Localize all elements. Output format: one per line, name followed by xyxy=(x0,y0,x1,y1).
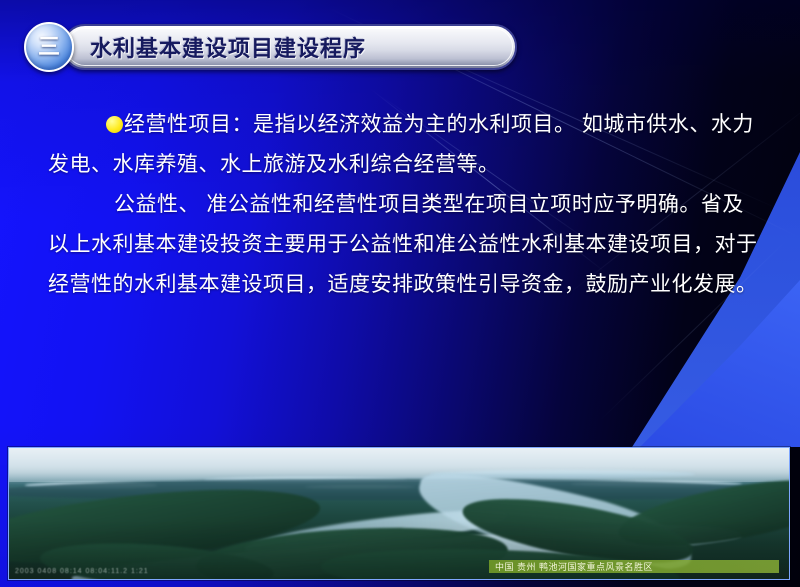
body-paragraph: 公益性、 准公益性和经营性项目类型在项目立项时应予明确。省及以上水利基本建设投资… xyxy=(48,185,760,305)
slide-canvas: 水利基本建设项目建设程序 三 经营性项目：是指以经济效益为主的水利项目。 如城市… xyxy=(0,0,800,587)
slide-header: 水利基本建设项目建设程序 三 xyxy=(0,0,800,92)
aerial-reservoir-photo: 2003 0408 08:14 08:04:11.2 1:21 中国 贵州 鸭池… xyxy=(9,448,789,579)
body-paragraph: 经营性项目：是指以经济效益为主的水利项目。 如城市供水、水力发电、水库养殖、水上… xyxy=(48,105,760,185)
photo-frame: 2003 0408 08:14 08:04:11.2 1:21 中国 贵州 鸭池… xyxy=(8,447,790,580)
photo-caption-strip: 中国 贵州 鸭池河国家重点风景名胜区 xyxy=(489,560,779,573)
photo-corner-stamp: 2003 0408 08:14 08:04:11.2 1:21 xyxy=(15,568,149,575)
section-number-badge: 三 xyxy=(24,22,74,72)
photo-caption-text: 中国 贵州 鸭池河国家重点风景名胜区 xyxy=(495,560,653,573)
title-pill: 水利基本建设项目建设程序 xyxy=(62,24,517,70)
slide-body: 经营性项目：是指以经济效益为主的水利项目。 如城市供水、水力发电、水库养殖、水上… xyxy=(48,105,760,305)
page-title: 水利基本建设项目建设程序 xyxy=(90,31,366,63)
section-number-label: 三 xyxy=(38,36,60,58)
bullet-circle-icon xyxy=(106,116,123,133)
body-paragraph-text: 经营性项目：是指以经济效益为主的水利项目。 如城市供水、水力发电、水库养殖、水上… xyxy=(48,113,754,176)
